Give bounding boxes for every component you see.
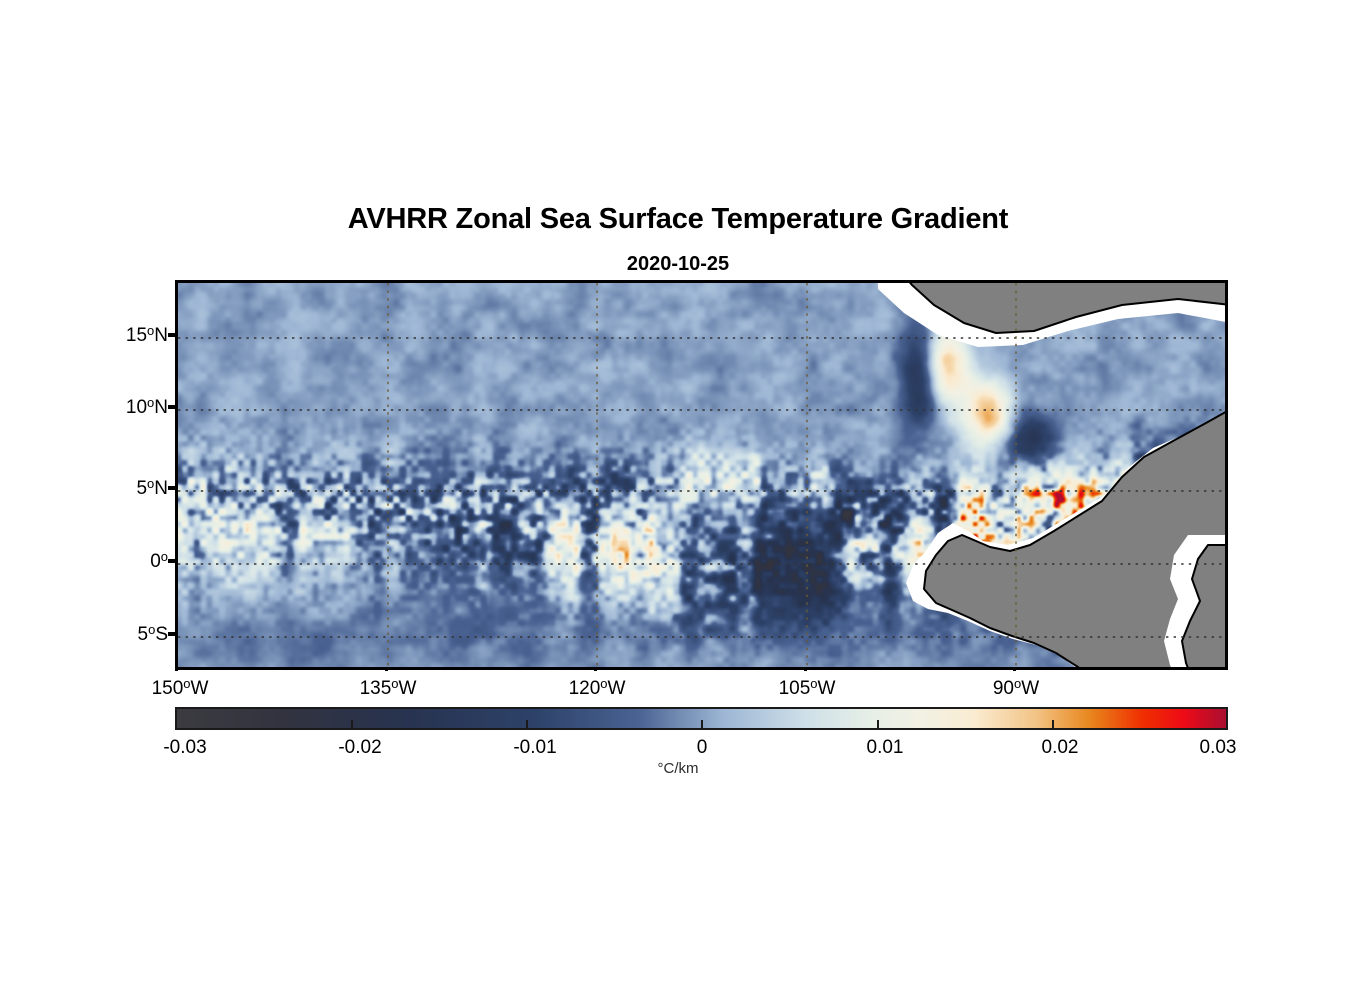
- xtick-label-150W: 150oW: [152, 676, 209, 700]
- ytick-label-5S: 5oS: [138, 622, 169, 646]
- figure-container: AVHRR Zonal Sea Surface Temperature Grad…: [0, 0, 1356, 1000]
- colorbar[interactable]: [175, 707, 1228, 730]
- ytick-label-15N: 15oN: [126, 323, 168, 347]
- map-plot-area[interactable]: [175, 280, 1228, 670]
- xtick-label-120W: 120oW: [569, 676, 626, 700]
- colorbar-label--0.01: -0.01: [513, 737, 556, 759]
- colorbar-label-0.02: 0.02: [1042, 737, 1079, 759]
- colorbar-tick--0.01: [526, 720, 528, 728]
- gridlines-layer: [178, 283, 1228, 670]
- xtick-label-105W: 105oW: [779, 676, 836, 700]
- colorbar-label--0.03: -0.03: [163, 737, 206, 759]
- colorbar-label--0.02: -0.02: [338, 737, 381, 759]
- colorbar-label-0: 0: [697, 737, 708, 759]
- xtick-label-90W: 90oW: [993, 676, 1039, 700]
- chart-subtitle: 2020-10-25: [0, 253, 1356, 276]
- chart-title: AVHRR Zonal Sea Surface Temperature Grad…: [0, 203, 1356, 236]
- colorbar-tick--0.02: [351, 720, 353, 728]
- colorbar-tick-0: [701, 720, 703, 728]
- colorbar-tick-0.01: [877, 720, 879, 728]
- colorbar-unit-label: °C/km: [0, 760, 1356, 777]
- ytick-label-5N: 5oN: [136, 476, 168, 500]
- colorbar-label-0.03: 0.03: [1200, 737, 1237, 759]
- colorbar-label-0.01: 0.01: [867, 737, 904, 759]
- xtick-label-135W: 135oW: [360, 676, 417, 700]
- ytick-label-0: 0o: [150, 549, 168, 573]
- ytick-label-10N: 10oN: [126, 395, 168, 419]
- colorbar-tick-0.02: [1052, 720, 1054, 728]
